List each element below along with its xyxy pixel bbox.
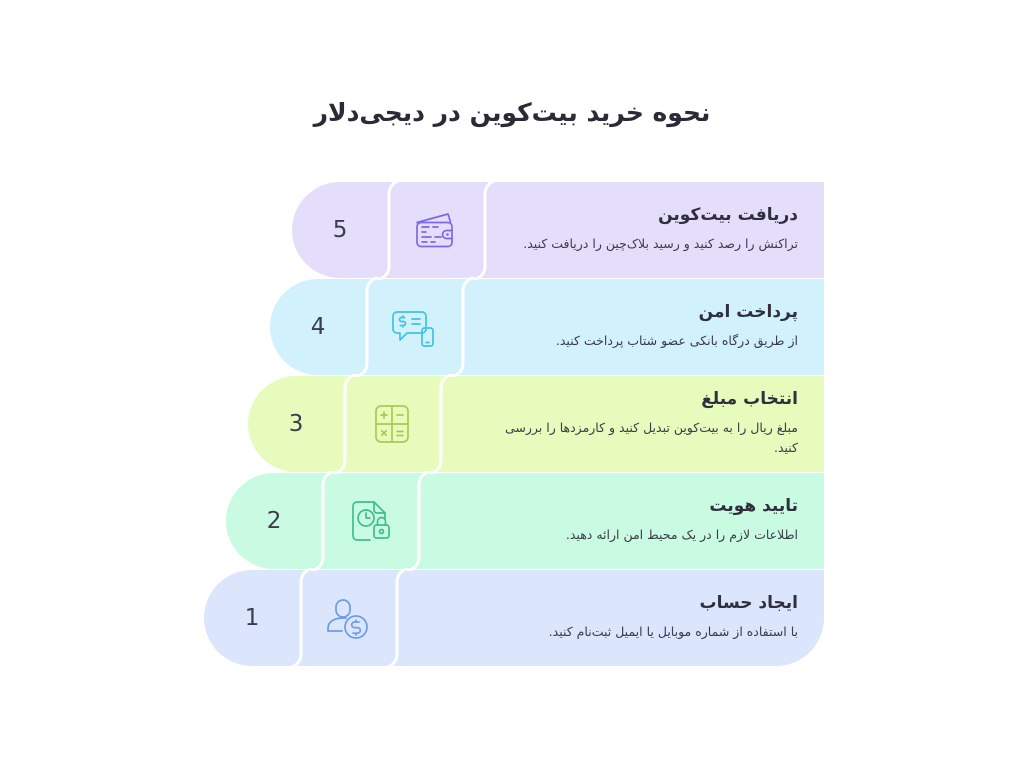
step-row-2[interactable]: 2تایید هویتاطلاعات لازم را در یک محیط ام…: [226, 473, 824, 569]
step-description: اطلاعات لازم را در یک محیط امن ارائه دهی…: [498, 525, 798, 545]
page-title: نحوه خرید بیت‌کوین در دیجی‌دلار: [0, 98, 1024, 127]
step-text-block: تایید هویتاطلاعات لازم را در یک محیط امن…: [434, 473, 798, 569]
step-row-1[interactable]: 1ایجاد حساببا استفاده از شماره موبایل یا…: [204, 570, 824, 666]
step-row-5[interactable]: 5دریافت بیت‌کوینتراکنش را رصد کنید و رسی…: [292, 182, 824, 278]
step-number-badge: 4: [270, 279, 366, 375]
step-number-badge: 5: [292, 182, 388, 278]
step-number: 5: [333, 217, 348, 243]
identity-document-lock-icon: [322, 473, 418, 569]
step-number: 4: [311, 314, 326, 340]
step-number-badge: 2: [226, 473, 322, 569]
step-heading: تایید هویت: [434, 497, 798, 517]
wallet-icon: [388, 182, 484, 278]
user-account-dollar-icon: [300, 570, 396, 666]
step-heading: انتخاب مبلغ: [456, 390, 798, 410]
step-description: مبلغ ریال را به بیت‌کوین تبدیل کنید و کا…: [498, 418, 798, 459]
steps-list: 5دریافت بیت‌کوینتراکنش را رصد کنید و رسی…: [0, 182, 1024, 664]
step-number: 1: [245, 605, 260, 631]
step-heading: ایجاد حساب: [412, 594, 798, 614]
step-number: 2: [267, 508, 282, 534]
calculator-icon: [344, 376, 440, 472]
step-heading: پرداخت امن: [478, 303, 798, 323]
secure-payment-icon: [366, 279, 462, 375]
step-number: 3: [289, 411, 304, 437]
step-row-4[interactable]: 4پرداخت امناز طریق درگاه بانکی عضو شتاب …: [270, 279, 824, 375]
step-description: با استفاده از شماره موبایل یا ایمیل ثبت‌…: [498, 622, 798, 642]
step-description: از طریق درگاه بانکی عضو شتاب پرداخت کنید…: [498, 331, 798, 351]
step-text-block: انتخاب مبلغمبلغ ریال را به بیت‌کوین تبدی…: [456, 376, 798, 472]
step-number-badge: 3: [248, 376, 344, 472]
step-text-block: دریافت بیت‌کوینتراکنش را رصد کنید و رسید…: [500, 182, 798, 278]
step-text-block: پرداخت امناز طریق درگاه بانکی عضو شتاب پ…: [478, 279, 798, 375]
step-text-block: ایجاد حساببا استفاده از شماره موبایل یا …: [412, 570, 798, 666]
step-row-3[interactable]: 3انتخاب مبلغمبلغ ریال را به بیت‌کوین تبد…: [248, 376, 824, 472]
step-heading: دریافت بیت‌کوین: [500, 206, 798, 226]
step-number-badge: 1: [204, 570, 300, 666]
step-description: تراکنش را رصد کنید و رسید بلاک‌چین را در…: [500, 234, 798, 254]
